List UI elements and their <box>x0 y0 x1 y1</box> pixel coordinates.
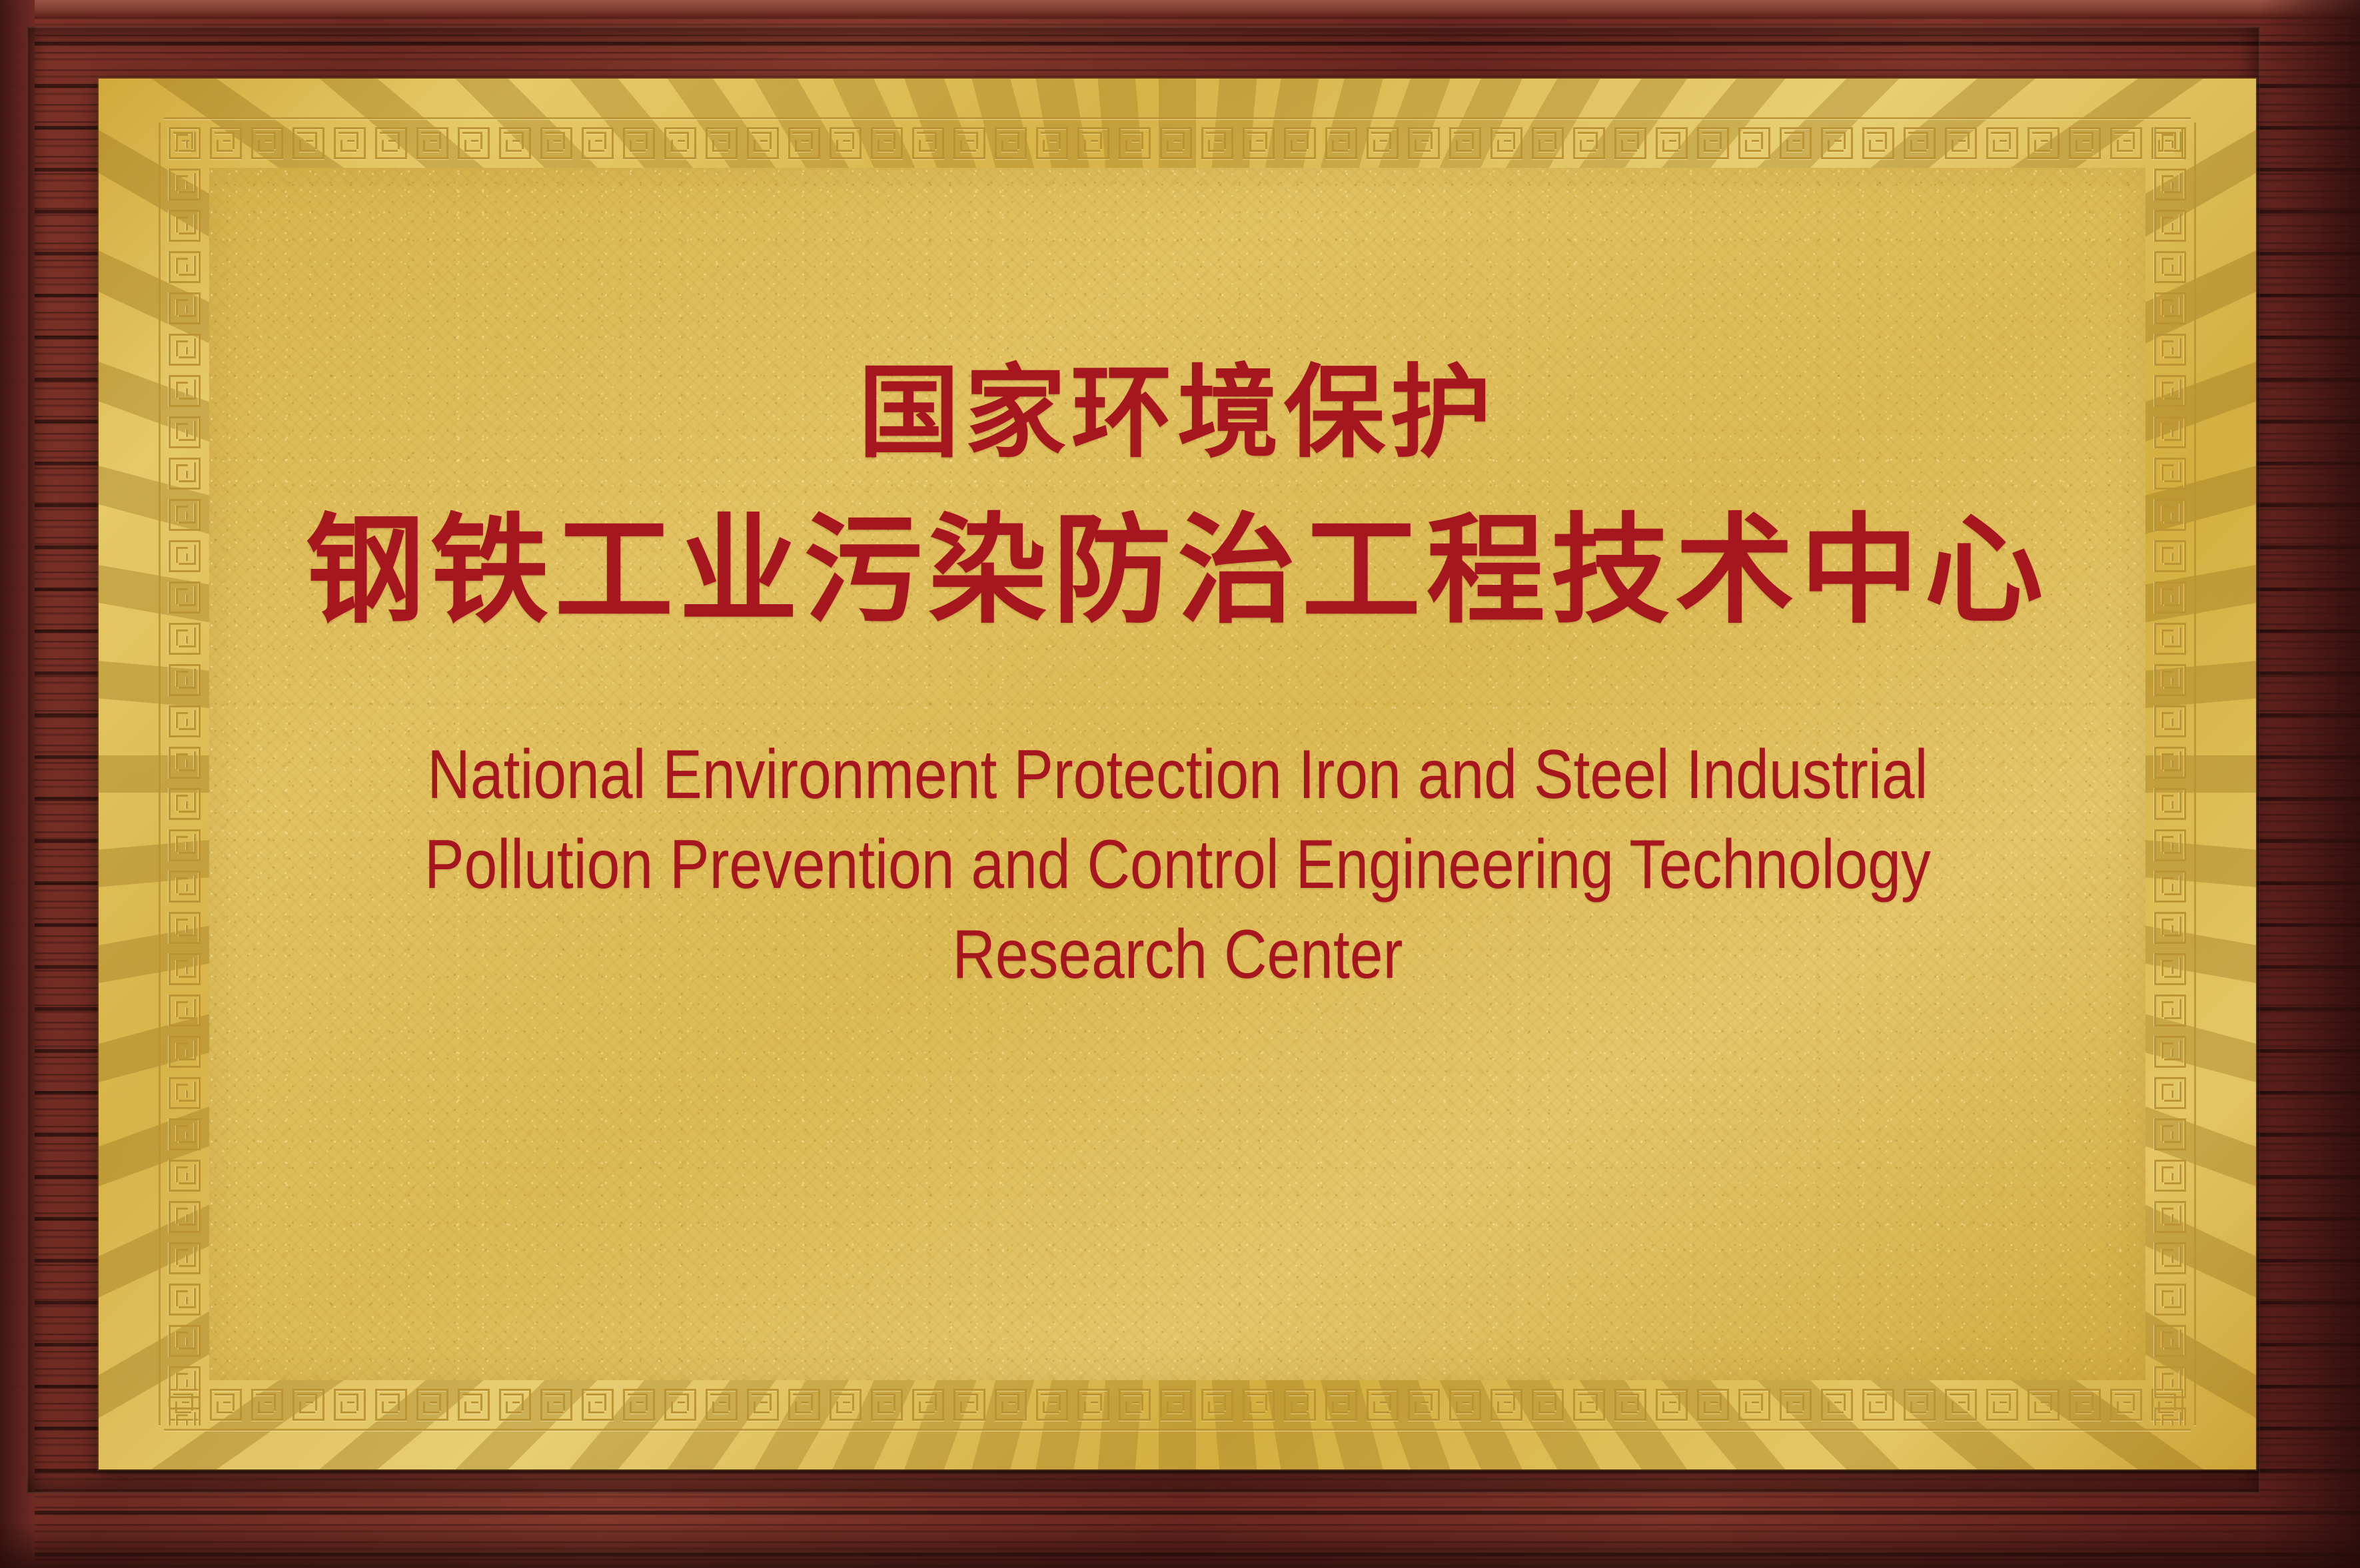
english-title-line-2: Pollution Prevention and Control Enginee… <box>424 820 1931 910</box>
chinese-title-line-2: 钢铁工业污染防治工程技术中心 <box>306 512 2050 630</box>
frame-right-edge <box>2260 0 2360 1568</box>
award-plaque: 国家环境保护 钢铁工业污染防治工程技术中心 National Environme… <box>0 0 2360 1568</box>
english-title: National Environment Protection Iron and… <box>424 730 1931 1000</box>
frame-top-edge <box>0 0 2360 17</box>
english-title-line-1: National Environment Protection Iron and… <box>424 730 1931 820</box>
chinese-title-line-1: 国家环境保护 <box>858 362 1496 464</box>
gold-plate: 国家环境保护 钢铁工业污染防治工程技术中心 National Environme… <box>99 79 2256 1469</box>
frame-bottom-edge <box>0 1521 2360 1568</box>
english-title-line-3: Research Center <box>424 910 1931 1000</box>
inscription: 国家环境保护 钢铁工业污染防治工程技术中心 National Environme… <box>99 79 2256 1469</box>
